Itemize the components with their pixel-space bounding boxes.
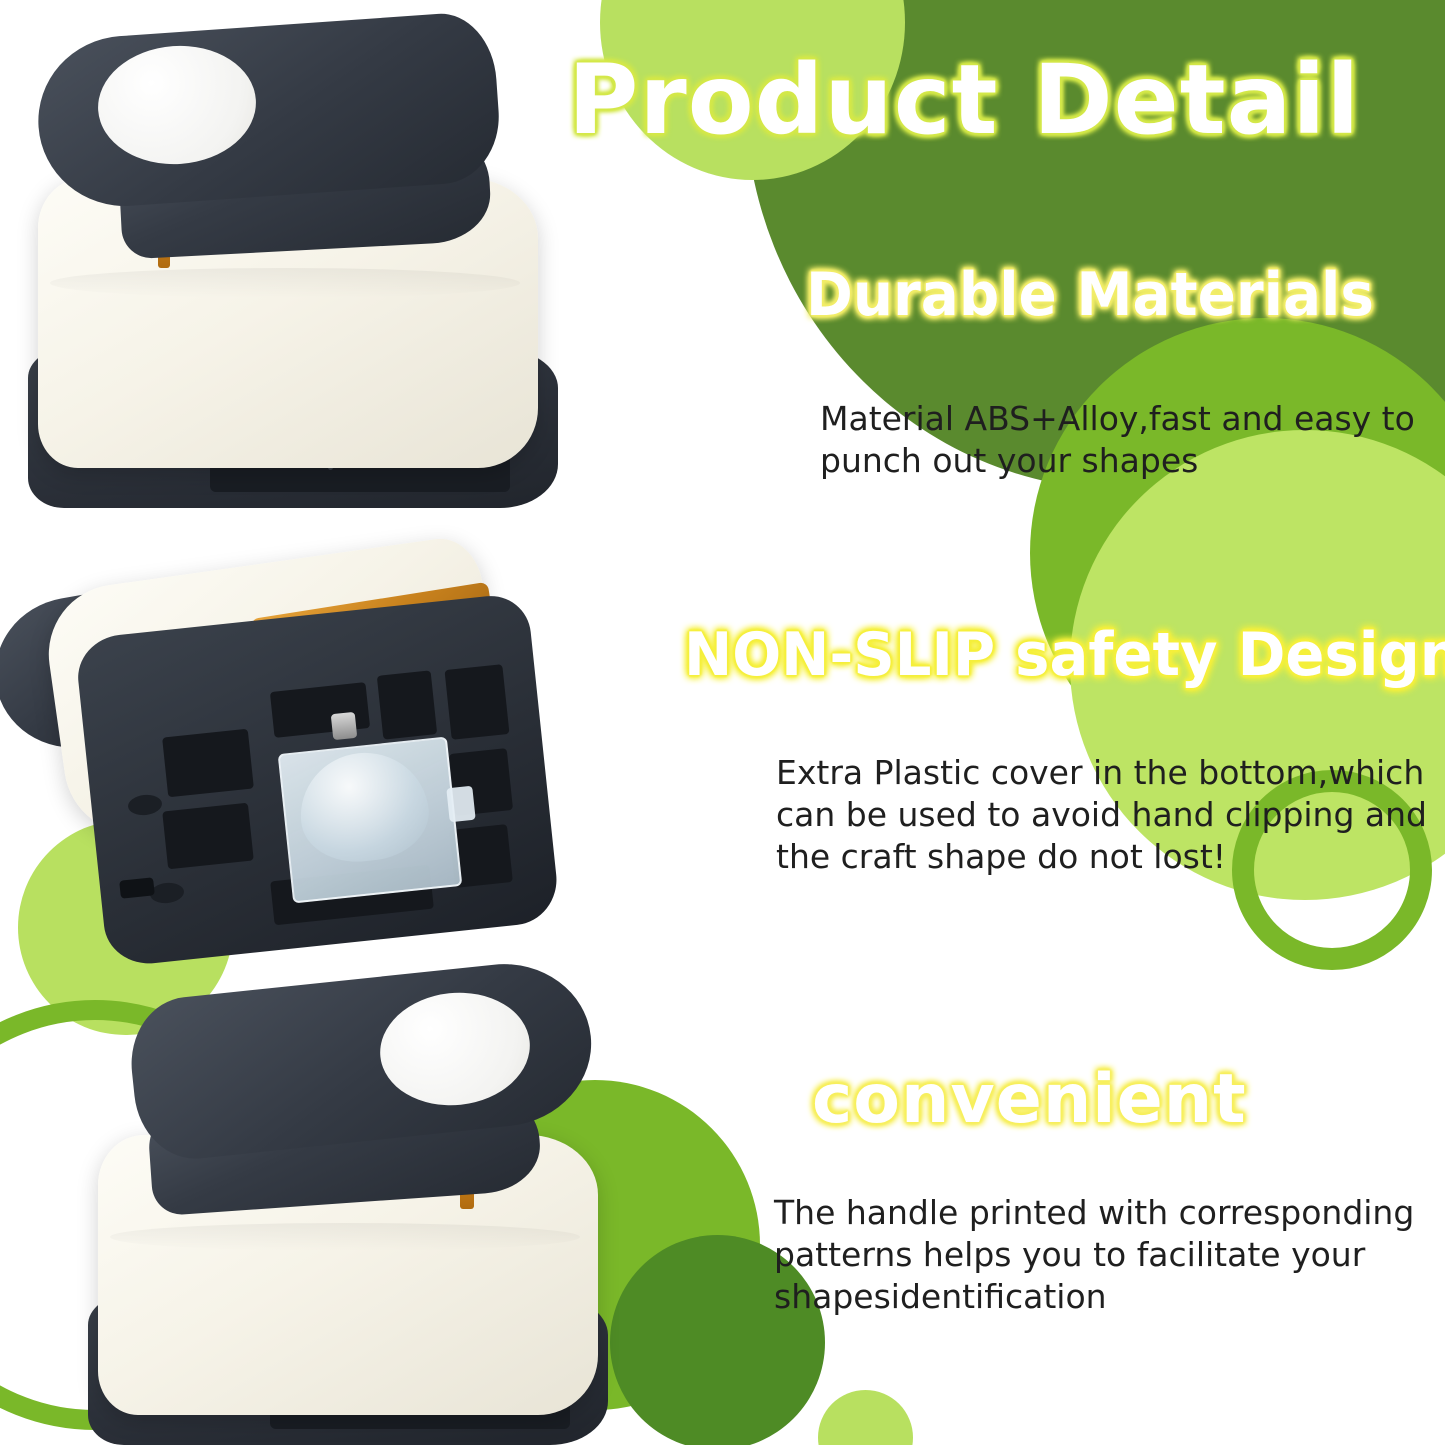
product-image-non-slip-safety xyxy=(0,555,600,975)
feature-body-non-slip-safety-design: Extra Plastic cover in the bottom,which … xyxy=(776,752,1441,879)
punch-underside-rib xyxy=(162,803,254,870)
punch-underside-rib xyxy=(162,729,254,798)
feature-heading-convenient: convenient xyxy=(812,1060,1247,1139)
punch-underside-label xyxy=(119,877,155,898)
feature-heading-durable-materials: Durable Materials xyxy=(806,260,1374,330)
feature-body-durable-materials: Material ABS+Alloy,fast and easy to punc… xyxy=(820,398,1440,482)
punch-underside-rib xyxy=(445,664,510,740)
punch-body-crease xyxy=(50,268,520,298)
background-circle-light-green-bottom-right xyxy=(818,1390,913,1445)
feature-body-convenient: The handle printed with corresponding pa… xyxy=(774,1192,1439,1319)
punch-underside-rib xyxy=(377,670,437,739)
product-detail-infographic: Product Detail Durable Materials Materia… xyxy=(0,0,1445,1445)
product-image-durable-materials xyxy=(10,18,570,508)
product-image-convenient xyxy=(70,975,650,1445)
punch-body-crease xyxy=(110,1223,580,1251)
page-title: Product Detail xyxy=(568,44,1360,156)
feature-heading-non-slip-safety-design: NON-SLIP safety Design xyxy=(684,620,1445,690)
punch-plastic-cover-tab xyxy=(446,786,475,823)
punch-metal-pin xyxy=(331,712,358,740)
